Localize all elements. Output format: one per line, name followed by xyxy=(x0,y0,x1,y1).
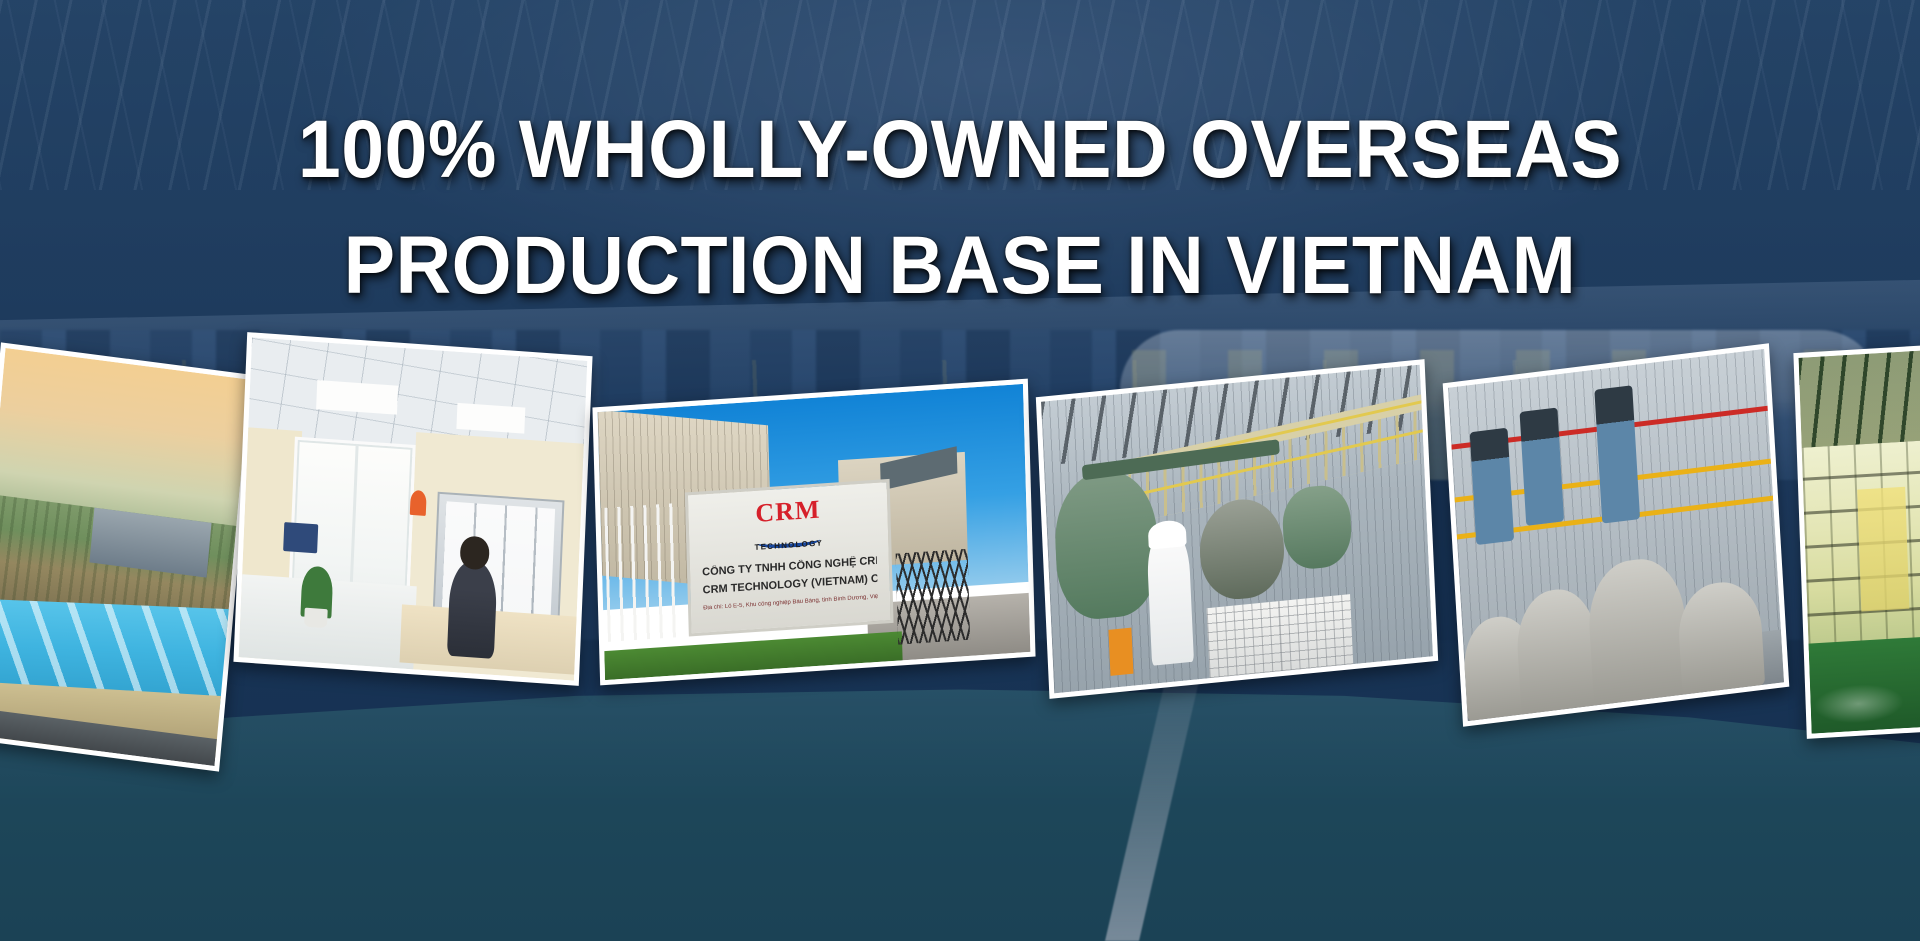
page-title: 100% WHOLLY-OWNED OVERSEAS PRODUCTION BA… xyxy=(58,92,1863,325)
sliding-gate xyxy=(896,549,971,645)
hero-banner: 100% WHOLLY-OWNED OVERSEAS PRODUCTION BA… xyxy=(0,0,1920,941)
chemical-plant-photo xyxy=(1041,365,1433,694)
perimeter-fence xyxy=(605,503,685,642)
panel-office-interior[interactable] xyxy=(233,332,592,686)
panel-company-gate-sign[interactable]: CRM TECHNOLOGY CÔNG TY TNHH CÔNG NGHỆ CR… xyxy=(592,379,1035,686)
technician-lab-coat xyxy=(1146,534,1193,666)
office-interior-photo xyxy=(239,337,588,680)
ibc-tote-stack xyxy=(1206,594,1353,678)
headline-line-1: 100% WHOLLY-OWNED OVERSEAS xyxy=(298,104,1622,195)
worker-hi-vis-vest xyxy=(1108,627,1133,676)
warehouse-photo xyxy=(1799,348,1920,733)
company-gate-photo: CRM TECHNOLOGY CÔNG TY TNHH CÔNG NGHỆ CR… xyxy=(598,384,1031,680)
mixer-drive-motor xyxy=(1520,408,1565,526)
photo-strip: CRM TECHNOLOGY CÔNG TY TNHH CÔNG NGHỆ CR… xyxy=(0,300,1920,820)
panel-chemical-plant[interactable] xyxy=(1036,359,1438,699)
office-worker xyxy=(447,560,498,659)
warehouse-roof-structure xyxy=(1799,348,1920,455)
blue-toolbox xyxy=(283,522,318,553)
panel-warehouse-totes[interactable] xyxy=(1793,343,1920,739)
reactor-mixers-photo xyxy=(1448,349,1784,721)
signboard: CRM TECHNOLOGY CÔNG TY TNHH CÔNG NGHỆ CR… xyxy=(685,479,893,637)
crm-logo-text: CRM xyxy=(688,490,887,533)
signboard-address: Địa chỉ: Lô E-5, Khu công nghiệp Bàu Bàn… xyxy=(703,594,878,612)
green-epoxy-floor xyxy=(1809,634,1920,734)
panel-aerial-factory-view[interactable] xyxy=(0,342,255,771)
panel-reactor-mixers[interactable] xyxy=(1443,343,1790,726)
ceiling-light xyxy=(457,403,525,433)
ceiling-light xyxy=(316,380,398,414)
aerial-factory-photo xyxy=(0,348,250,766)
plant-pot xyxy=(304,607,328,628)
mixer-drive-motor xyxy=(1470,427,1515,545)
stacked-ibc-totes xyxy=(1802,439,1920,651)
